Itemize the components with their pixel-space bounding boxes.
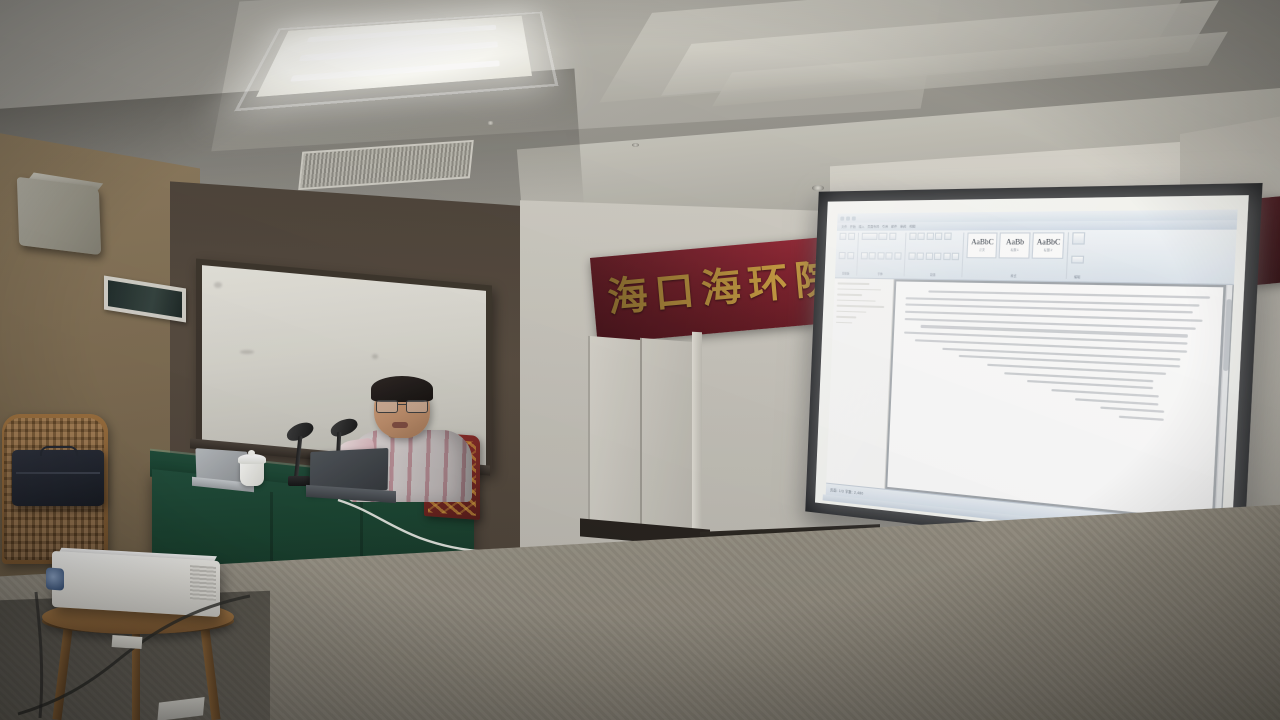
tab-file[interactable]: 文件: [841, 225, 847, 229]
glasses-lens-left: [376, 400, 398, 413]
word-ribbon: 剪贴板: [835, 230, 1237, 286]
ribbon-group-label: 剪贴板: [838, 271, 853, 275]
strikethrough-icon[interactable]: [886, 252, 893, 259]
double-door-left[interactable]: [588, 336, 642, 540]
stool-paper: [112, 635, 143, 649]
status-page-word-count: 页面: 1/3 字数: 2,480: [830, 487, 864, 496]
whiteboard-smudge: [372, 354, 378, 359]
ribbon-group-label: 段落: [907, 272, 958, 277]
presenter-glasses: [376, 400, 428, 411]
quick-access-undo-icon[interactable]: [846, 216, 850, 220]
font-name-box[interactable]: [861, 233, 877, 240]
tab-page-layout[interactable]: 页面布局: [867, 224, 879, 228]
recessed-downlight: [487, 121, 494, 125]
align-right-icon[interactable]: [925, 253, 933, 260]
style-name: 标题 1: [1010, 248, 1018, 252]
style-name: 正文: [979, 248, 985, 252]
format-painter-icon[interactable]: [847, 252, 854, 259]
quick-access-save-icon[interactable]: [841, 216, 845, 220]
ribbon-group-clipboard: 剪贴板: [838, 233, 859, 276]
align-center-icon[interactable]: [917, 253, 924, 260]
pa-speaker: [17, 177, 101, 255]
teacup-lid-knob: [248, 450, 255, 456]
shading-icon[interactable]: [952, 253, 960, 260]
tab-references[interactable]: 引用: [882, 224, 888, 228]
paste-icon[interactable]: [840, 233, 847, 240]
projector-lens: [46, 567, 64, 590]
recessed-downlight: [632, 143, 639, 147]
nav-item[interactable]: [836, 316, 856, 318]
cut-icon[interactable]: [848, 233, 855, 240]
laptop-bag: [12, 450, 104, 506]
recessed-downlight: [812, 185, 824, 191]
laptop-bag-handle: [40, 446, 78, 456]
numbered-list-icon[interactable]: [918, 233, 925, 240]
nav-item[interactable]: [836, 321, 852, 323]
wall-corner-post: [692, 332, 702, 543]
bullet-list-icon[interactable]: [909, 233, 916, 240]
find-icon[interactable]: [1072, 232, 1085, 244]
whiteboard-smudge: [214, 282, 222, 288]
tab-view[interactable]: 视图: [909, 224, 915, 228]
ribbon-group-styles: AaBbC 正文 AaBb 标题 1 AaBbC 标题 2: [966, 232, 1070, 279]
quick-access-redo-icon[interactable]: [852, 216, 856, 220]
screenshot-root: 海口海环院环 文件 开始 插入 页面布局 引用 邮件: [0, 0, 1280, 720]
multilevel-list-icon[interactable]: [926, 233, 934, 240]
document-text-line: [928, 290, 1211, 298]
underline-icon[interactable]: [877, 252, 884, 259]
presenter-hair: [371, 376, 433, 402]
document-page[interactable]: [888, 281, 1224, 520]
nav-item[interactable]: [837, 310, 866, 312]
nav-item[interactable]: [837, 299, 876, 302]
document-text-line: [1051, 389, 1159, 398]
word-window: 文件 开始 插入 页面布局 引用 邮件 审阅 视图: [826, 209, 1238, 537]
style-heading-1[interactable]: AaBb 标题 1: [999, 232, 1031, 258]
tab-review[interactable]: 审阅: [900, 224, 906, 228]
ribbon-group-label: 样式: [966, 273, 1063, 279]
nav-item[interactable]: [838, 282, 869, 284]
document-text-line: [1004, 372, 1153, 382]
bold-icon[interactable]: [861, 252, 868, 259]
nav-item[interactable]: [837, 305, 884, 308]
tab-insert[interactable]: 插入: [859, 225, 865, 229]
ribbon-group-font: 字体: [860, 233, 906, 277]
glasses-lens-right: [406, 400, 428, 413]
style-sample: AaBbC: [971, 239, 994, 247]
tab-mailings[interactable]: 邮件: [891, 224, 897, 228]
ribbon-group-paragraph: 段落: [907, 233, 964, 278]
align-left-icon[interactable]: [908, 252, 915, 259]
tab-home[interactable]: 开始: [850, 225, 856, 229]
ribbon-group-label: 编辑: [1071, 275, 1084, 280]
word-document-area: [827, 278, 1235, 523]
style-heading-2[interactable]: AaBbC 标题 2: [1032, 232, 1065, 259]
style-sample: AaBb: [1006, 239, 1024, 247]
ribbon-group-editing: 编辑: [1071, 232, 1089, 279]
style-normal[interactable]: AaBbC 正文: [967, 232, 998, 258]
line-spacing-icon[interactable]: [943, 253, 951, 260]
justify-icon[interactable]: [934, 253, 942, 260]
laptop-bag-zipper: [16, 472, 100, 474]
ribbon-group-label: 字体: [860, 272, 901, 277]
decrease-indent-icon[interactable]: [935, 233, 943, 240]
styles-gallery: AaBbC 正文 AaBb 标题 1 AaBbC 标题 2: [967, 232, 1065, 259]
replace-icon[interactable]: [1071, 256, 1084, 264]
document-text-line: [1075, 398, 1158, 405]
style-sample: AaBbC: [1036, 239, 1060, 247]
italic-icon[interactable]: [869, 252, 876, 259]
projection-screen: 文件 开始 插入 页面布局 引用 邮件 审阅 视图: [805, 183, 1262, 563]
glasses-bridge: [397, 404, 407, 405]
navigation-pane[interactable]: [827, 278, 895, 488]
document-text-line: [1100, 407, 1165, 414]
increase-indent-icon[interactable]: [944, 233, 952, 240]
whiteboard-smudge: [240, 350, 254, 354]
document-text-line: [1027, 380, 1152, 389]
grow-font-icon[interactable]: [889, 233, 896, 240]
copy-icon[interactable]: [839, 252, 846, 259]
nav-item[interactable]: [837, 294, 862, 296]
projection-screen-surface: 文件 开始 插入 页面布局 引用 邮件 审阅 视图: [815, 195, 1249, 549]
document-text-line: [1119, 416, 1165, 421]
text-color-icon[interactable]: [894, 252, 901, 259]
font-size-box[interactable]: [879, 233, 888, 240]
nav-item[interactable]: [838, 288, 881, 290]
presenter-mouth: [392, 422, 408, 428]
projector-vent: [190, 565, 216, 601]
style-name: 标题 2: [1044, 248, 1053, 252]
double-door-right[interactable]: [640, 338, 696, 542]
